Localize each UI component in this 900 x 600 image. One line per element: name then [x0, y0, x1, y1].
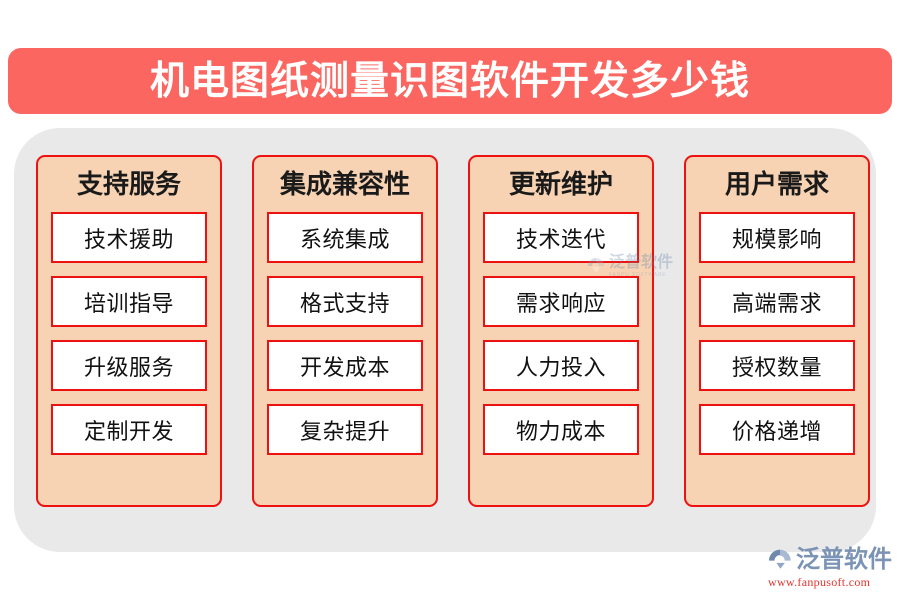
category-card-user-demand: 用户需求 规模影响 高端需求 授权数量 价格递增 — [684, 155, 870, 507]
category-item-label: 技术迭代 — [516, 222, 606, 254]
category-item[interactable]: 系统集成 — [267, 212, 423, 263]
category-columns: 支持服务 技术援助 培训指导 升级服务 定制开发 集成兼容性 系统集成 格式支持… — [36, 155, 870, 507]
category-item[interactable]: 需求响应 — [483, 276, 639, 327]
category-item[interactable]: 规模影响 — [699, 212, 855, 263]
brand-url: www.fanpusoft.com — [768, 575, 870, 590]
category-item[interactable]: 高端需求 — [699, 276, 855, 327]
category-item-label: 升级服务 — [84, 350, 174, 382]
category-item-label: 技术援助 — [84, 222, 174, 254]
category-item-label: 系统集成 — [300, 222, 390, 254]
category-item[interactable]: 技术迭代 — [483, 212, 639, 263]
category-item[interactable]: 格式支持 — [267, 276, 423, 327]
category-item[interactable]: 人力投入 — [483, 340, 639, 391]
category-item-label: 格式支持 — [300, 286, 390, 318]
category-title: 更新维护 — [483, 165, 639, 204]
category-item[interactable]: 技术援助 — [51, 212, 207, 263]
category-item[interactable]: 复杂提升 — [267, 404, 423, 455]
brand-row: 泛普软件 — [767, 546, 892, 573]
brand-logo: 泛普软件 www.fanpusoft.com — [767, 546, 893, 590]
category-item-label: 复杂提升 — [300, 414, 390, 446]
category-item[interactable]: 培训指导 — [51, 276, 207, 327]
category-item-label: 高端需求 — [732, 286, 822, 318]
category-card-integration: 集成兼容性 系统集成 格式支持 开发成本 复杂提升 — [252, 155, 438, 507]
category-title: 用户需求 — [699, 165, 855, 204]
category-item-label: 需求响应 — [516, 286, 606, 318]
category-item[interactable]: 物力成本 — [483, 404, 639, 455]
fanpu-swoosh-icon — [767, 547, 793, 573]
category-item[interactable]: 授权数量 — [699, 340, 855, 391]
category-item-label: 人力投入 — [516, 350, 606, 382]
category-card-support: 支持服务 技术援助 培训指导 升级服务 定制开发 — [36, 155, 222, 507]
brand-name: 泛普软件 — [796, 548, 892, 572]
category-item-label: 规模影响 — [732, 222, 822, 254]
category-item[interactable]: 开发成本 — [267, 340, 423, 391]
category-item[interactable]: 定制开发 — [51, 404, 207, 455]
category-item-label: 培训指导 — [84, 286, 174, 318]
category-title: 集成兼容性 — [267, 165, 423, 204]
category-item-label: 授权数量 — [732, 350, 822, 382]
title-banner: 机电图纸测量识图软件开发多少钱 — [8, 48, 892, 114]
category-item-label: 物力成本 — [516, 414, 606, 446]
category-item-label: 开发成本 — [300, 350, 390, 382]
category-item-label: 定制开发 — [84, 414, 174, 446]
category-item[interactable]: 升级服务 — [51, 340, 207, 391]
page-title: 机电图纸测量识图软件开发多少钱 — [150, 62, 750, 101]
category-item[interactable]: 价格递增 — [699, 404, 855, 455]
category-item-label: 价格递增 — [732, 414, 822, 446]
category-card-maintenance: 更新维护 技术迭代 需求响应 人力投入 物力成本 — [468, 155, 654, 507]
category-title: 支持服务 — [51, 165, 207, 204]
